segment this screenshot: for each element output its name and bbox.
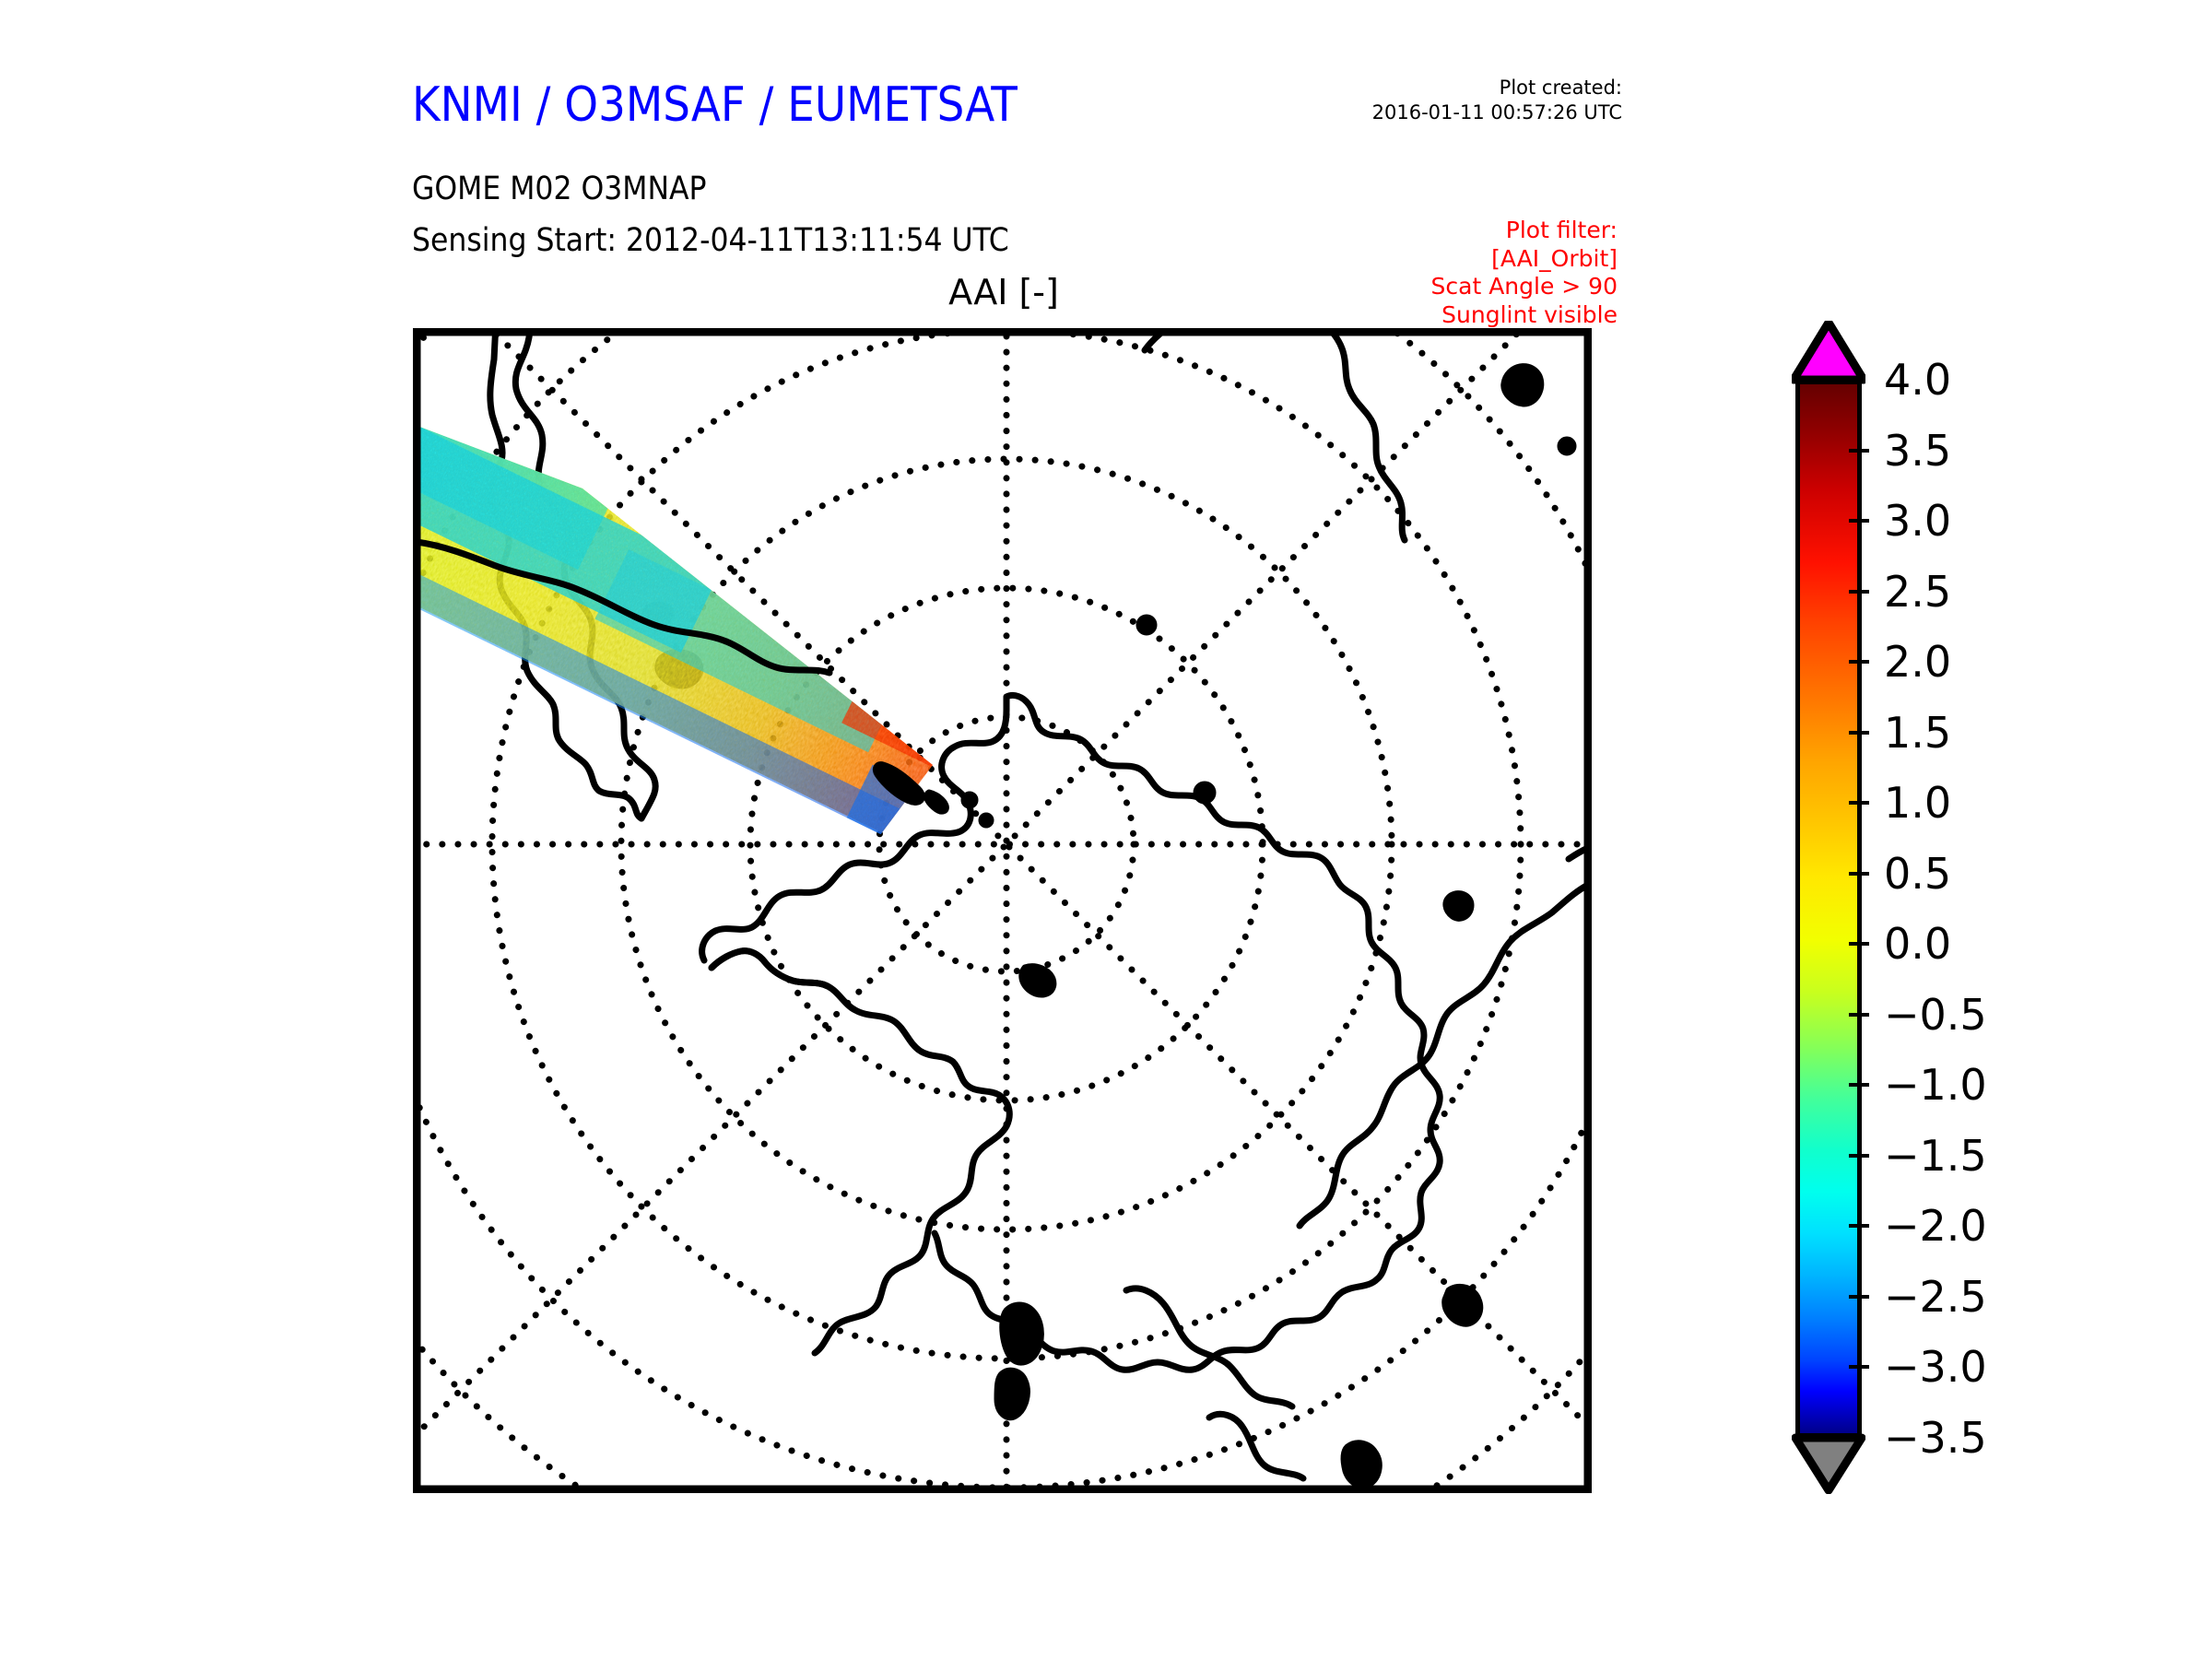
plot-created-label: Plot created: — [1372, 76, 1622, 100]
colorbar-tick-label: 3.0 — [1884, 496, 1951, 546]
colorbar-tick-label: −1.0 — [1884, 1060, 1987, 1110]
product-name: GOME M02 O3MNAP — [412, 171, 707, 207]
colorbar-over-arrow-outline — [1792, 321, 1865, 385]
colorbar-tick — [1849, 660, 1869, 664]
aai-swath — [417, 332, 1137, 907]
colorbar-tick — [1849, 1154, 1869, 1158]
colorbar-tick-label: 2.5 — [1884, 567, 1951, 617]
colorbar-tick-label: −0.5 — [1884, 990, 1987, 1040]
colorbar-tick-label: 1.5 — [1884, 708, 1951, 758]
colorbar-tick-label: 0.5 — [1884, 849, 1951, 899]
plot-filter-title: Plot filter: — [1431, 217, 1618, 245]
colorbar-tick-label: 3.5 — [1884, 426, 1951, 476]
polar-map — [417, 332, 1588, 1489]
colorbar-tick — [1849, 801, 1869, 805]
colorbar-tick — [1849, 942, 1869, 946]
colorbar-tick — [1849, 1083, 1869, 1087]
colorbar[interactable]: 4.03.53.02.52.01.51.00.50.0−0.5−1.0−1.5−… — [1792, 324, 2179, 1495]
colorbar-tick-label: −3.5 — [1884, 1413, 1987, 1463]
colorbar-tick-label: −1.5 — [1884, 1131, 1987, 1181]
page-title: KNMI / O3MSAF / EUMETSAT — [412, 77, 1018, 133]
colorbar-tick — [1849, 731, 1869, 735]
colorbar-tick-label: 4.0 — [1884, 355, 1951, 405]
colorbar-tick — [1849, 590, 1869, 594]
colorbar-gradient — [1795, 380, 1862, 1438]
colorbar-tick — [1849, 1013, 1869, 1017]
colorbar-tick-label: −2.0 — [1884, 1201, 1987, 1251]
colorbar-tick-label: −3.0 — [1884, 1342, 1987, 1392]
colorbar-tick — [1849, 1365, 1869, 1369]
colorbar-under-arrow-outline — [1792, 1433, 1865, 1494]
plot-created-block: Plot created: 2016-01-11 00:57:26 UTC — [1372, 76, 1622, 125]
colorbar-tick — [1849, 1224, 1869, 1228]
colorbar-tick-label: 1.0 — [1884, 778, 1951, 828]
colorbar-tick — [1849, 872, 1869, 876]
chart-title: AAI [-] — [0, 272, 2007, 312]
plot-created-timestamp: 2016-01-11 00:57:26 UTC — [1372, 100, 1622, 125]
colorbar-tick-label: 0.0 — [1884, 919, 1951, 969]
colorbar-tick — [1849, 519, 1869, 523]
colorbar-tick — [1849, 1295, 1869, 1299]
coastlines — [490, 332, 1588, 1486]
sensing-start: Sensing Start: 2012-04-11T13:11:54 UTC — [412, 222, 1009, 259]
colorbar-tick-label: −2.5 — [1884, 1272, 1987, 1322]
plot-filter-line-0: [AAI_Orbit] — [1431, 245, 1618, 274]
map-plot-area[interactable] — [413, 328, 1592, 1493]
colorbar-tick-label: 2.0 — [1884, 637, 1951, 687]
colorbar-tick — [1849, 449, 1869, 453]
